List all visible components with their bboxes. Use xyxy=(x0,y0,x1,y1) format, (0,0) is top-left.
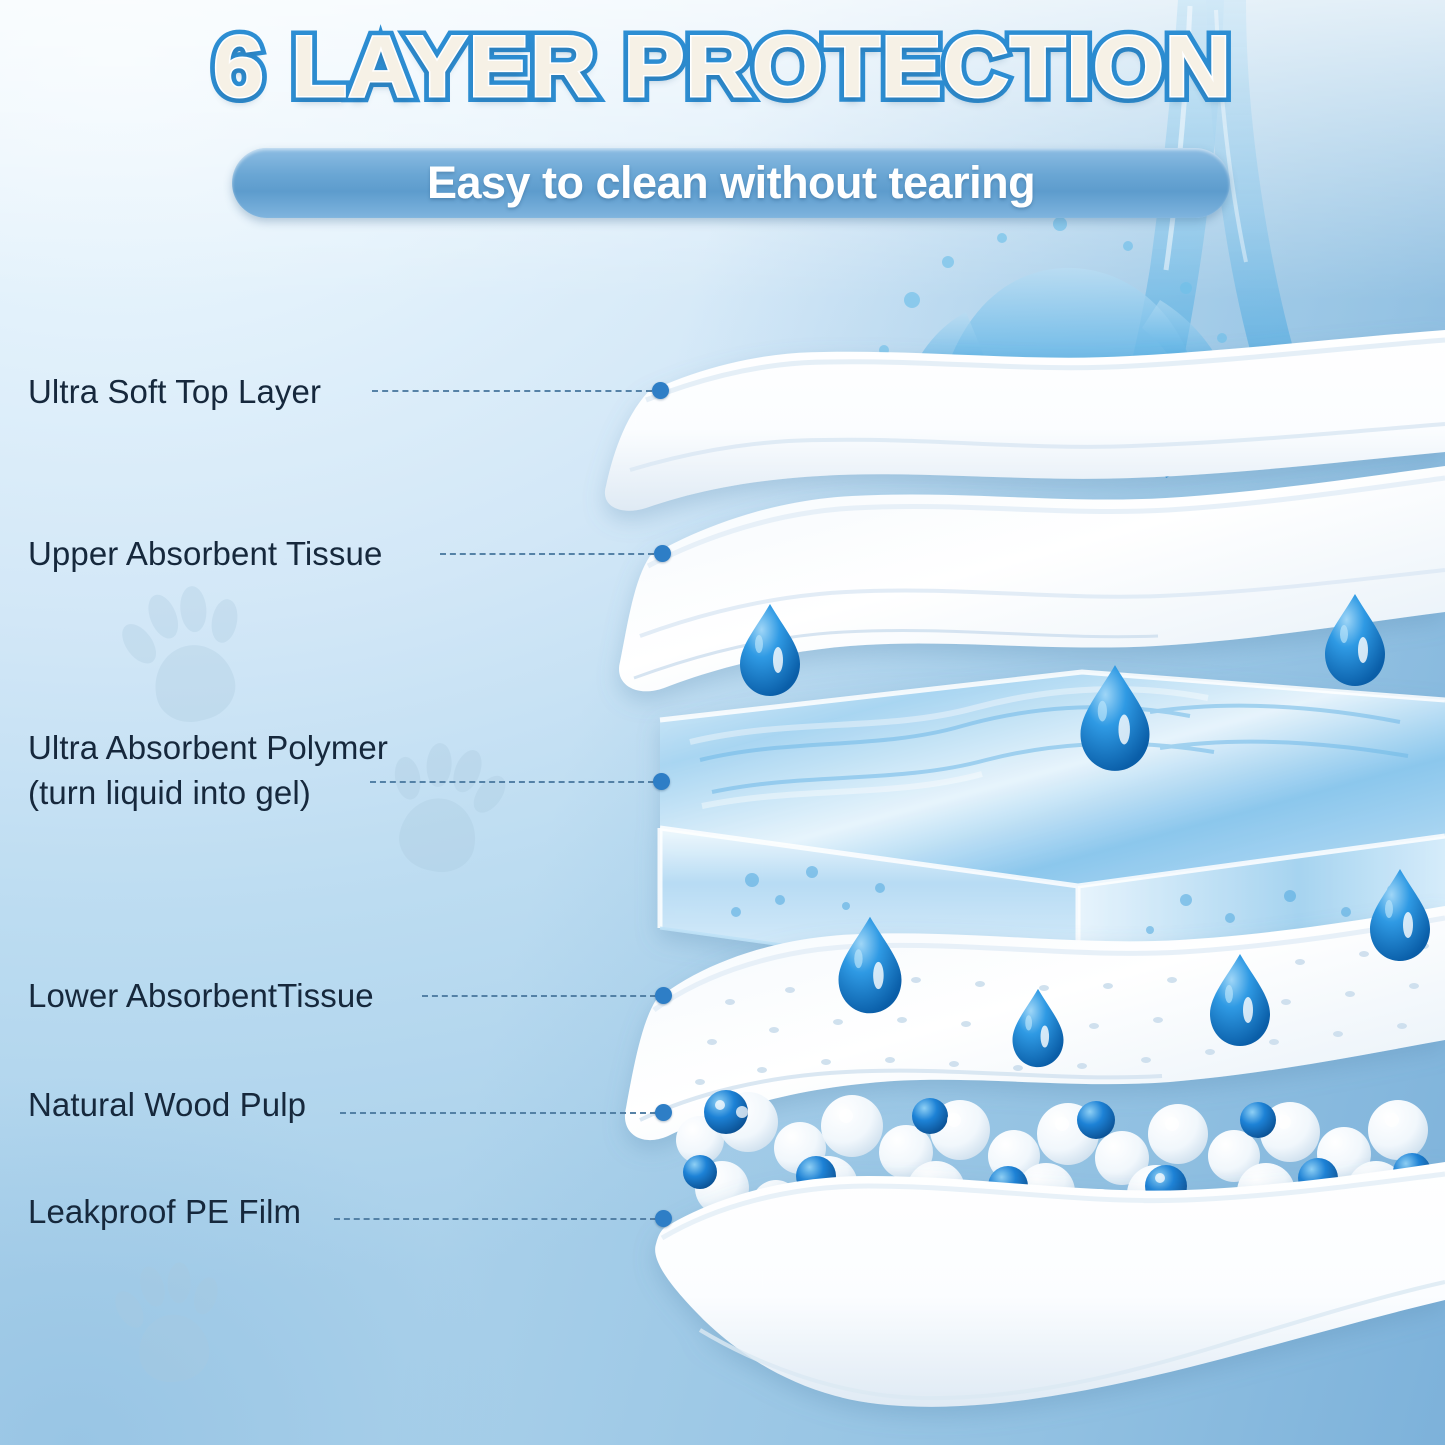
callout-label: Upper Absorbent Tissue xyxy=(28,534,382,574)
callout-leader-line xyxy=(370,781,654,783)
callout-label: Leakproof PE Film xyxy=(28,1192,301,1232)
subtitle-text: Easy to clean without tearing xyxy=(232,148,1230,218)
callout-label: Ultra Soft Top Layer xyxy=(28,372,321,412)
callout-dot xyxy=(655,1104,672,1121)
infographic-canvas: 6 LAYER PROTECTION 6 LAYER PROTECTION Ea… xyxy=(0,0,1445,1445)
callout-dot xyxy=(654,545,671,562)
callout-leader-line xyxy=(372,390,652,392)
callout-leader-line xyxy=(340,1112,656,1114)
callout-label-line2: (turn liquid into gel) xyxy=(28,773,311,813)
callout-leader-line xyxy=(422,995,656,997)
page-title-overlay: 6 LAYER PROTECTION xyxy=(0,24,1445,110)
leakproof-pe-film-sheet xyxy=(655,1162,1445,1407)
callout-label: Ultra Absorbent Polymer xyxy=(28,728,388,768)
callout-label: Lower AbsorbentTissue xyxy=(28,976,374,1016)
callout-label: Natural Wood Pulp xyxy=(28,1085,306,1125)
callout-leader-line xyxy=(334,1218,656,1220)
callout-dot xyxy=(653,773,670,790)
subtitle-banner: Easy to clean without tearing xyxy=(232,148,1230,218)
callout-dot xyxy=(655,1210,672,1227)
callout-dot xyxy=(655,987,672,1004)
callout-dot xyxy=(652,382,669,399)
callout-leader-line xyxy=(440,553,654,555)
